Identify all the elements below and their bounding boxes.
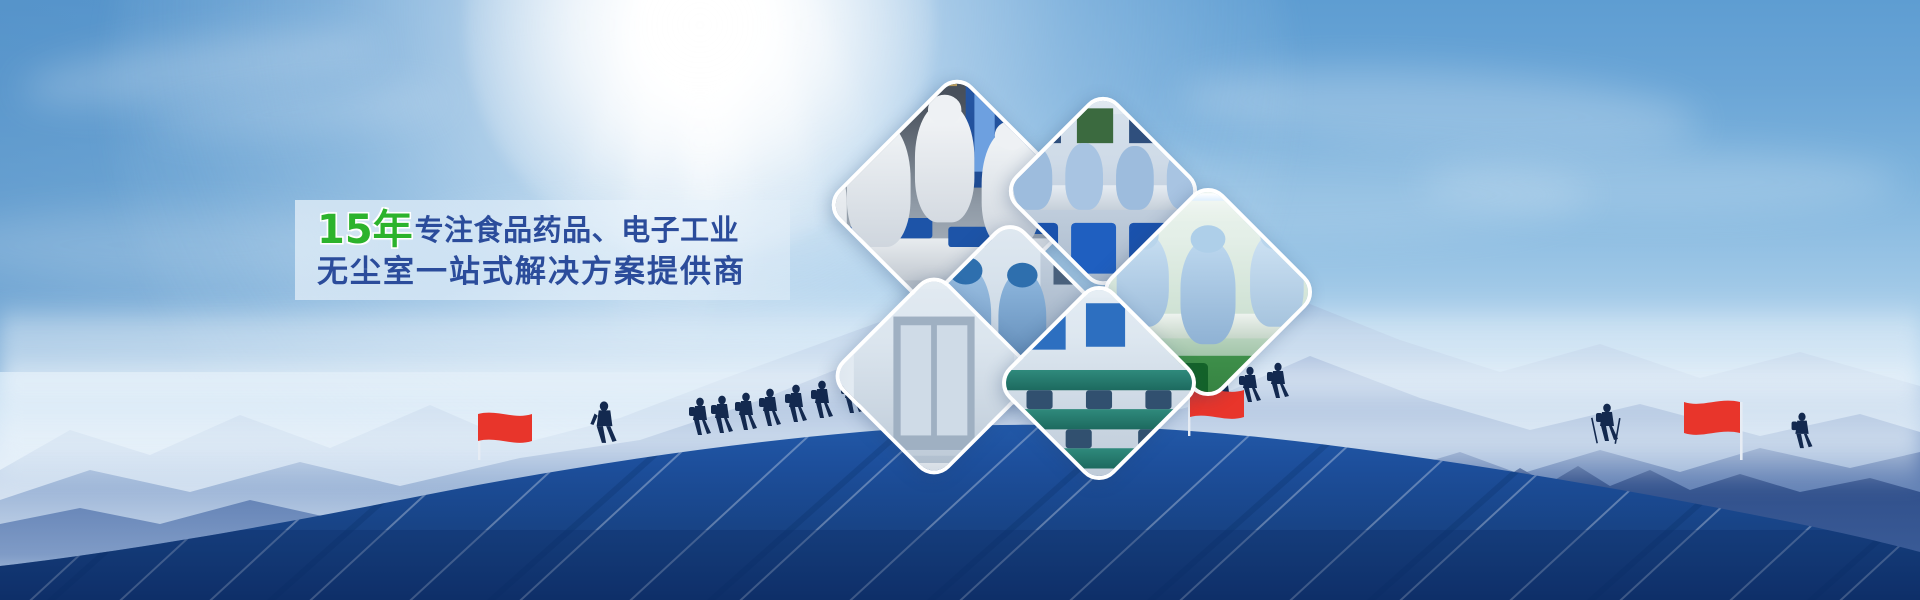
hero-banner: 15年专注食品药品、电子工业 无尘室一站式解决方案提供商 <box>0 0 1920 600</box>
photo-collage <box>0 0 1920 600</box>
